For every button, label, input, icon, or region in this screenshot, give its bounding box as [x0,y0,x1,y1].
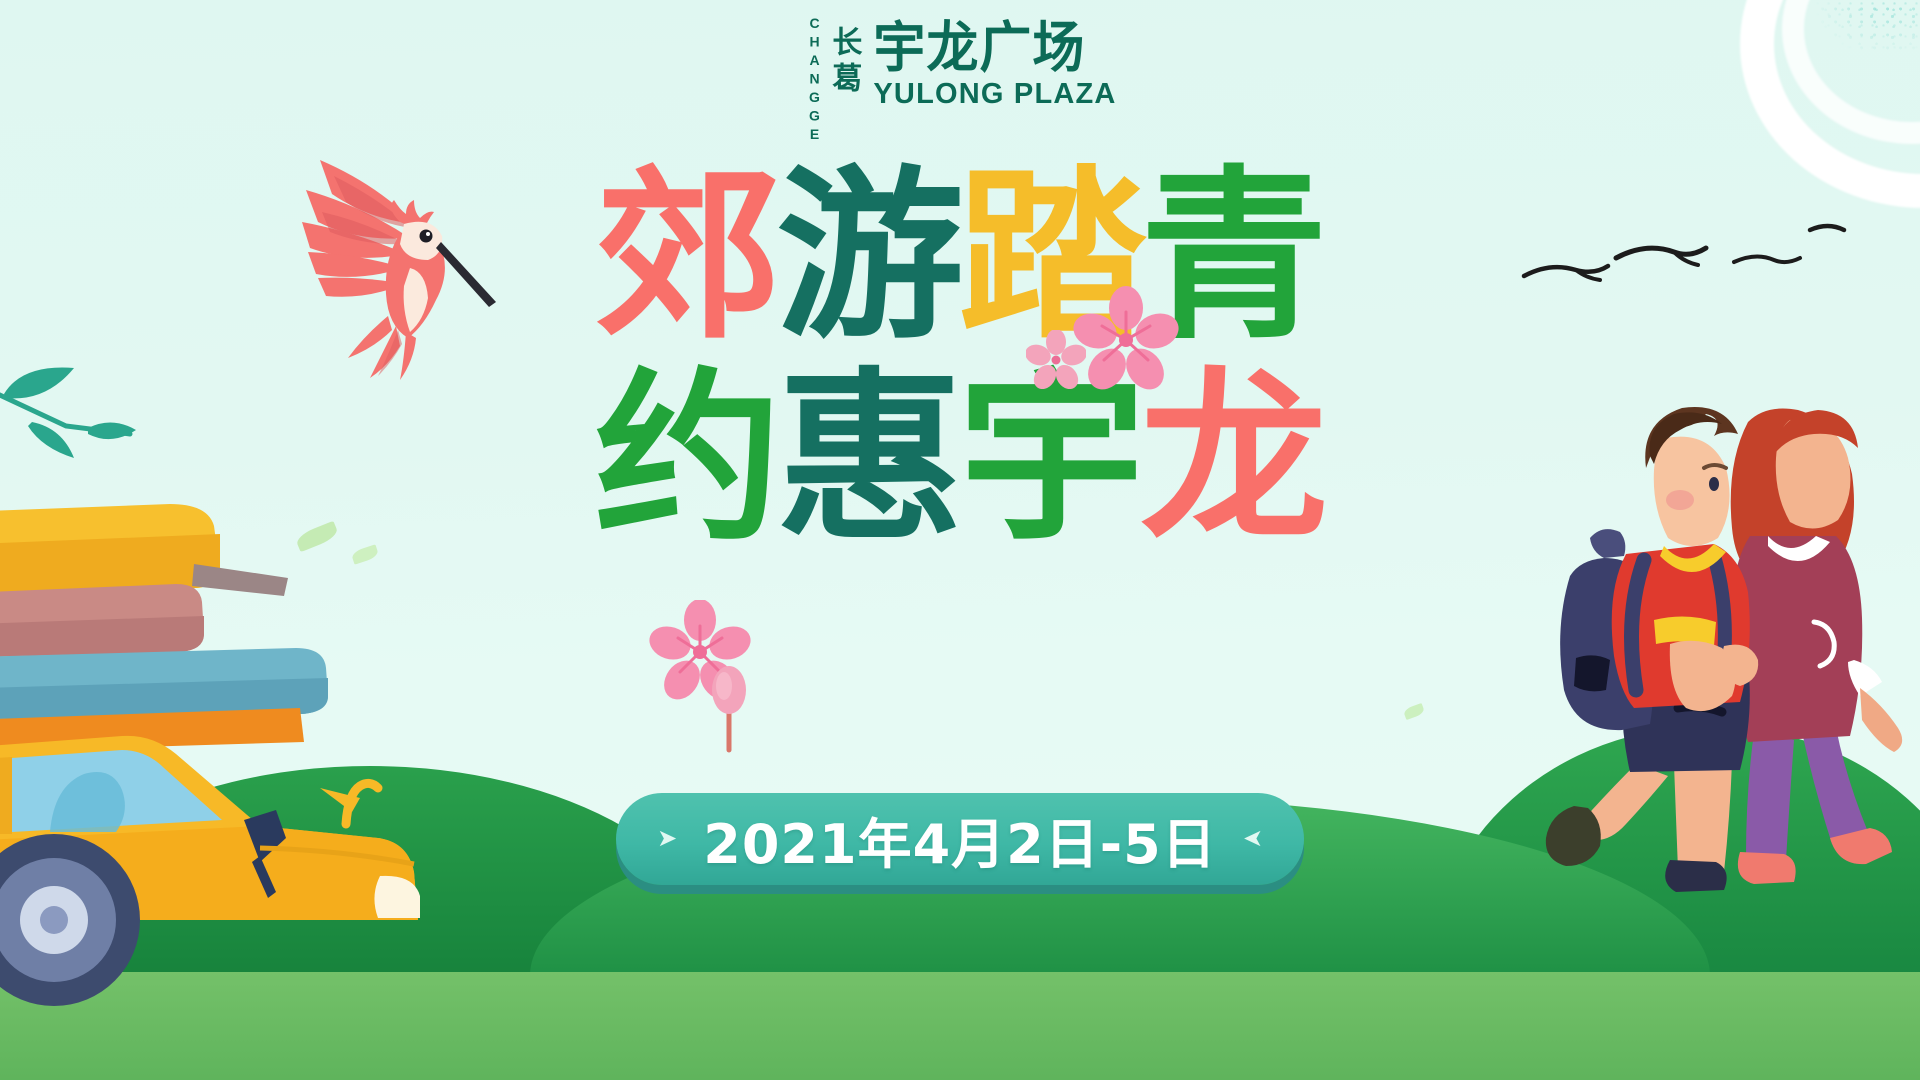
headline-line-1: 郊游踏青 [0,165,1920,349]
yellow-car-illustration [0,420,428,940]
hikers-illustration [1518,360,1920,900]
blossom-bud-icon [706,666,752,754]
blossom-icon [648,600,752,704]
headline-char-yu: 宇 [958,367,1144,551]
logo-name-cn: 宇龙广场 [873,22,1116,76]
headline-char-qing: 青 [1140,165,1326,349]
floating-petal [1403,703,1426,720]
headline-char-long: 龙 [1140,367,1326,551]
arrow-left-icon: ➤ [1243,827,1263,851]
brand-logo: CHANGGE 长葛 宇龙广场 YULONG PLAZA [806,22,1146,140]
headline-char-you: 游 [776,165,962,349]
logo-name-en: YULONG PLAZA [873,80,1116,109]
logo-pinyin: CHANGGE [806,26,823,134]
ground-foreground [0,972,1920,1080]
headline-char-hui: 惠 [776,367,962,551]
headline-char-yue: 约 [594,367,780,551]
event-date-badge[interactable]: ➤ 2021年4月2日-5日 ➤ [616,793,1304,885]
logo-name-block: 宇龙广场 YULONG PLAZA [873,22,1116,109]
poster-canvas: CHANGGE 长葛 宇龙广场 YULONG PLAZA [0,0,1920,1080]
headline-char-jiao: 郊 [594,165,780,349]
logo-city-block: CHANGGE 长葛 [806,22,861,138]
event-date-text: 2021年4月2日-5日 [703,800,1216,879]
headline-char-ta: 踏 [958,165,1144,349]
logo-city-cn: 长葛 [826,26,861,130]
arrow-right-icon: ➤ [657,827,677,851]
